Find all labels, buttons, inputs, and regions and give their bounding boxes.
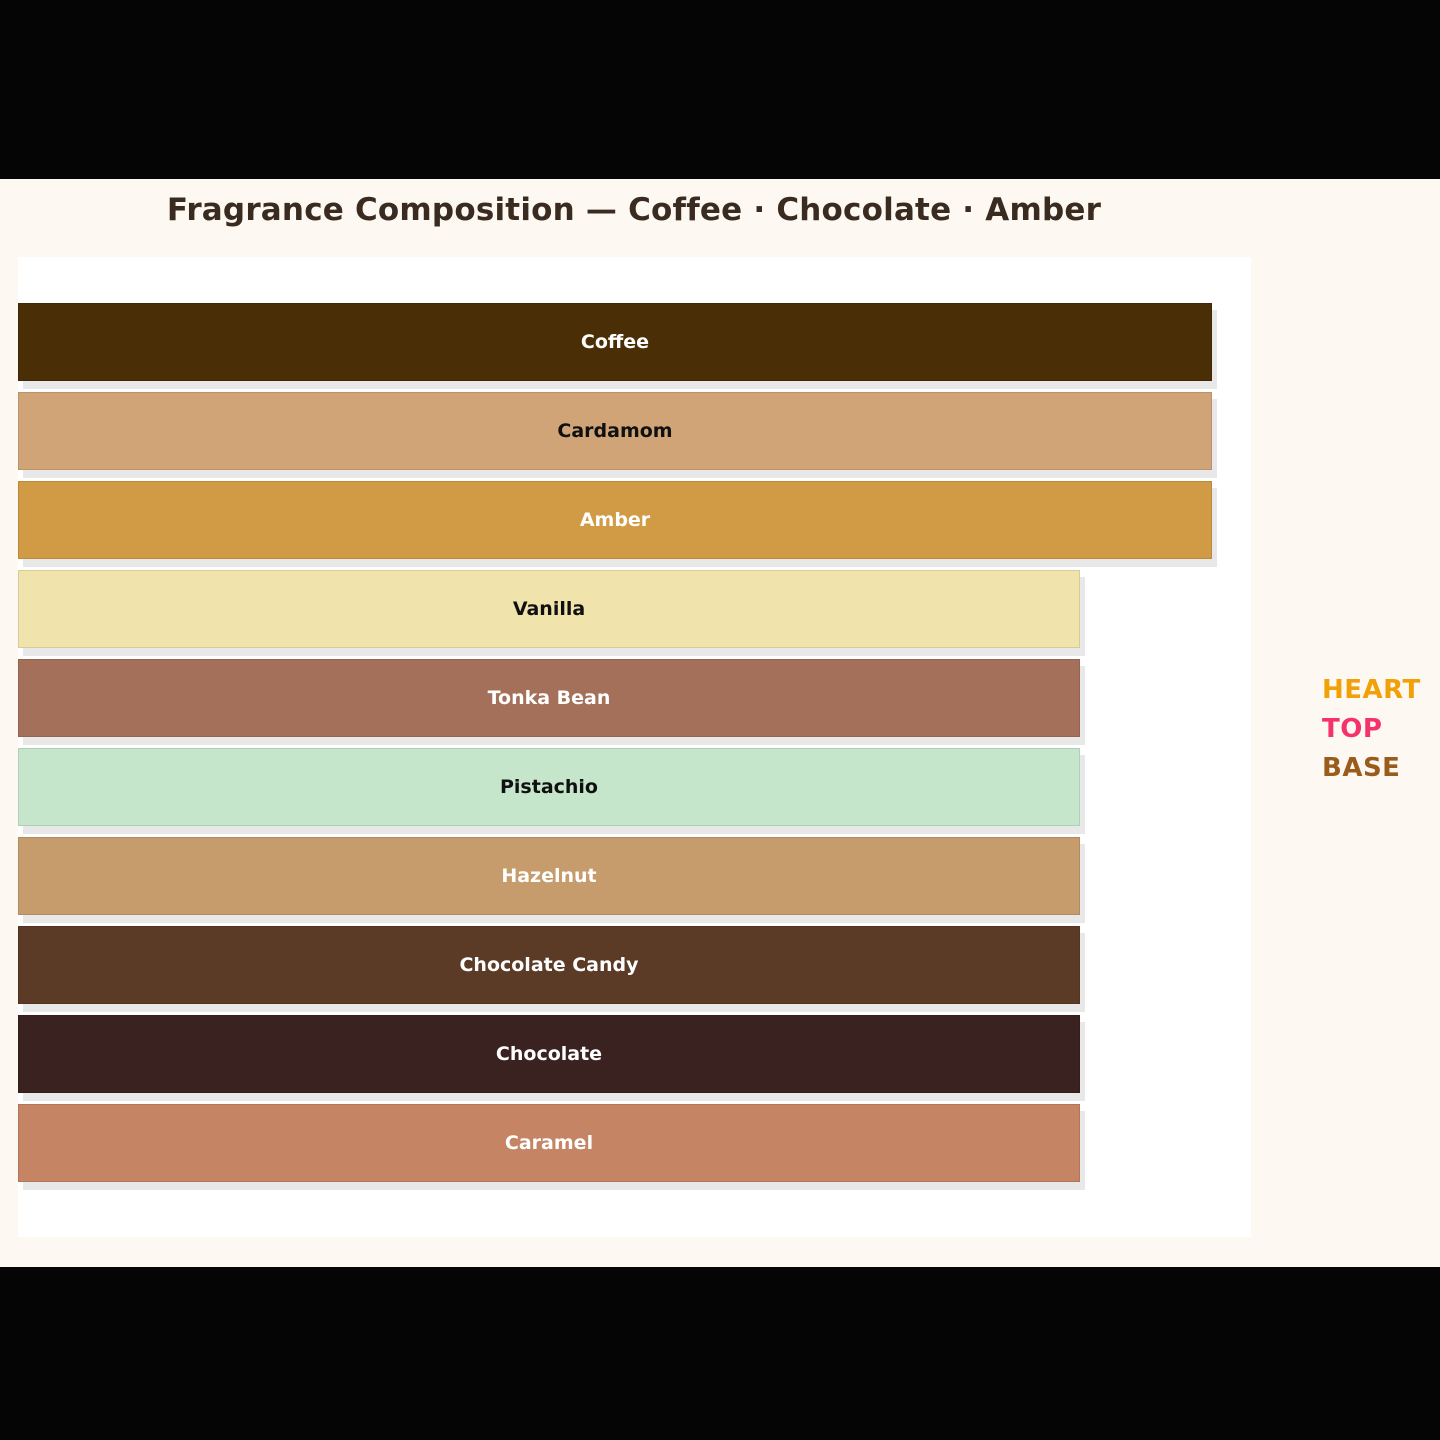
screenshot-root: Fragrance Composition — Coffee · Chocola… [0,0,1440,1440]
bar-hazelnut[interactable]: Hazelnut [18,837,1080,915]
bar-row[interactable]: Vanilla [18,570,1086,656]
bar-label: Hazelnut [501,865,596,887]
bar-row[interactable]: Cardamom [18,392,1218,478]
legend: HEARTTOPBASE [1322,677,1421,781]
bar-coffee[interactable]: Coffee [18,303,1212,381]
bar-row[interactable]: Hazelnut [18,837,1086,923]
bar-row[interactable]: Chocolate [18,1015,1086,1101]
bar-vanilla[interactable]: Vanilla [18,570,1080,648]
bar-label: Amber [580,509,650,531]
letterbox-band-top [0,0,1440,179]
bar-series: CoffeeCardamomAmberVanillaTonka BeanPist… [18,257,1251,1237]
bar-label: Chocolate Candy [459,954,638,976]
bar-row[interactable]: Amber [18,481,1218,567]
bar-label: Pistachio [500,776,598,798]
bar-chocolate[interactable]: Chocolate [18,1015,1080,1093]
legend-item-top[interactable]: TOP [1322,716,1421,742]
figure-canvas: Fragrance Composition — Coffee · Chocola… [0,179,1440,1267]
legend-item-base[interactable]: BASE [1322,755,1421,781]
legend-item-heart[interactable]: HEART [1322,677,1421,703]
bar-label: Chocolate [496,1043,602,1065]
letterbox-band-bottom [0,1267,1440,1440]
bar-label: Cardamom [557,420,672,442]
bar-row[interactable]: Caramel [18,1104,1086,1190]
bar-chocolate-candy[interactable]: Chocolate Candy [18,926,1080,1004]
bar-row[interactable]: Chocolate Candy [18,926,1086,1012]
plot-panel: CoffeeCardamomAmberVanillaTonka BeanPist… [18,257,1251,1237]
bar-pistachio[interactable]: Pistachio [18,748,1080,826]
bar-label: Vanilla [513,598,585,620]
chart-title: Fragrance Composition — Coffee · Chocola… [0,192,1268,228]
bar-label: Tonka Bean [488,687,611,709]
bar-tonka-bean[interactable]: Tonka Bean [18,659,1080,737]
bar-caramel[interactable]: Caramel [18,1104,1080,1182]
bar-row[interactable]: Tonka Bean [18,659,1086,745]
bar-row[interactable]: Pistachio [18,748,1086,834]
bar-label: Caramel [505,1132,593,1154]
bar-amber[interactable]: Amber [18,481,1212,559]
bar-cardamom[interactable]: Cardamom [18,392,1212,470]
bar-label: Coffee [581,331,649,353]
bar-row[interactable]: Coffee [18,303,1218,389]
